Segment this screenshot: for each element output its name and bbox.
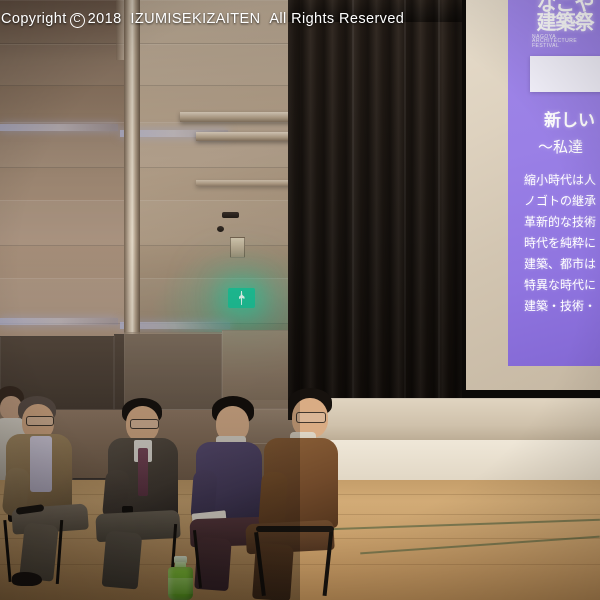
ceiling-camera-lens	[217, 226, 224, 232]
necktie	[138, 448, 148, 496]
wall-band	[0, 44, 300, 86]
exit-sign	[228, 288, 255, 308]
slide-white-box	[530, 56, 600, 92]
slide-body-line: 革新的な技術	[524, 212, 596, 233]
glasses-icon	[130, 419, 159, 429]
slide-body: 縮小時代は人 ノゴトの継承 革新的な技術 時代を純粋に 建築、都市は 特異な時代…	[524, 170, 596, 317]
slide-body-line: 時代を純粋に	[524, 233, 596, 254]
copyright-rights: All Rights Reserved	[269, 11, 404, 27]
slide-body-line: 縮小時代は人	[524, 170, 596, 191]
copyright-prefix: Copyright	[1, 11, 67, 27]
chair-seat	[256, 526, 334, 532]
slide-title: 新しい	[544, 106, 595, 131]
logo-romaji: NAGOYA ARCHITECTURE FESTIVAL	[532, 35, 598, 49]
projection-screen-surface: なごや 建築祭 NAGOYA ARCHITECTURE FESTIVAL 新しい…	[466, 0, 600, 390]
slide-body-line: ノゴトの継承	[524, 191, 596, 212]
wall-light-strip	[0, 318, 118, 325]
wall-plaque	[230, 237, 245, 258]
shirt	[30, 436, 52, 492]
slide-body-line: 建築、都市は	[524, 254, 596, 275]
copyright-symbol-icon: C	[70, 13, 85, 28]
copyright-year: 2018	[88, 11, 122, 27]
glasses-icon	[26, 416, 54, 426]
floor-court-line	[300, 519, 600, 531]
slide-body-line: 建築・技術・	[524, 296, 596, 317]
wall-light-strip	[0, 124, 118, 131]
slide-subtitle: 〜私達	[538, 136, 583, 157]
glasses-icon	[296, 412, 326, 423]
screenshot-root: なごや 建築祭 NAGOYA ARCHITECTURE FESTIVAL 新しい…	[0, 0, 600, 600]
bottle-label	[168, 578, 193, 594]
copyright-watermark: CopyrightC2018 IZUMISEKIZAITEN All Right…	[0, 11, 600, 28]
stage-curtain	[288, 22, 472, 420]
exit-figure-icon	[239, 291, 245, 305]
ceiling-camera	[222, 212, 239, 218]
presentation-slide: なごや 建築祭 NAGOYA ARCHITECTURE FESTIVAL 新しい…	[508, 0, 600, 366]
leg	[102, 531, 143, 590]
slide-body-line: 特異な時代に	[524, 275, 596, 296]
wall-band	[0, 200, 300, 246]
copyright-owner: IZUMISEKIZAITEN	[130, 11, 260, 27]
floor-plank	[0, 564, 600, 565]
shoe	[12, 572, 42, 586]
